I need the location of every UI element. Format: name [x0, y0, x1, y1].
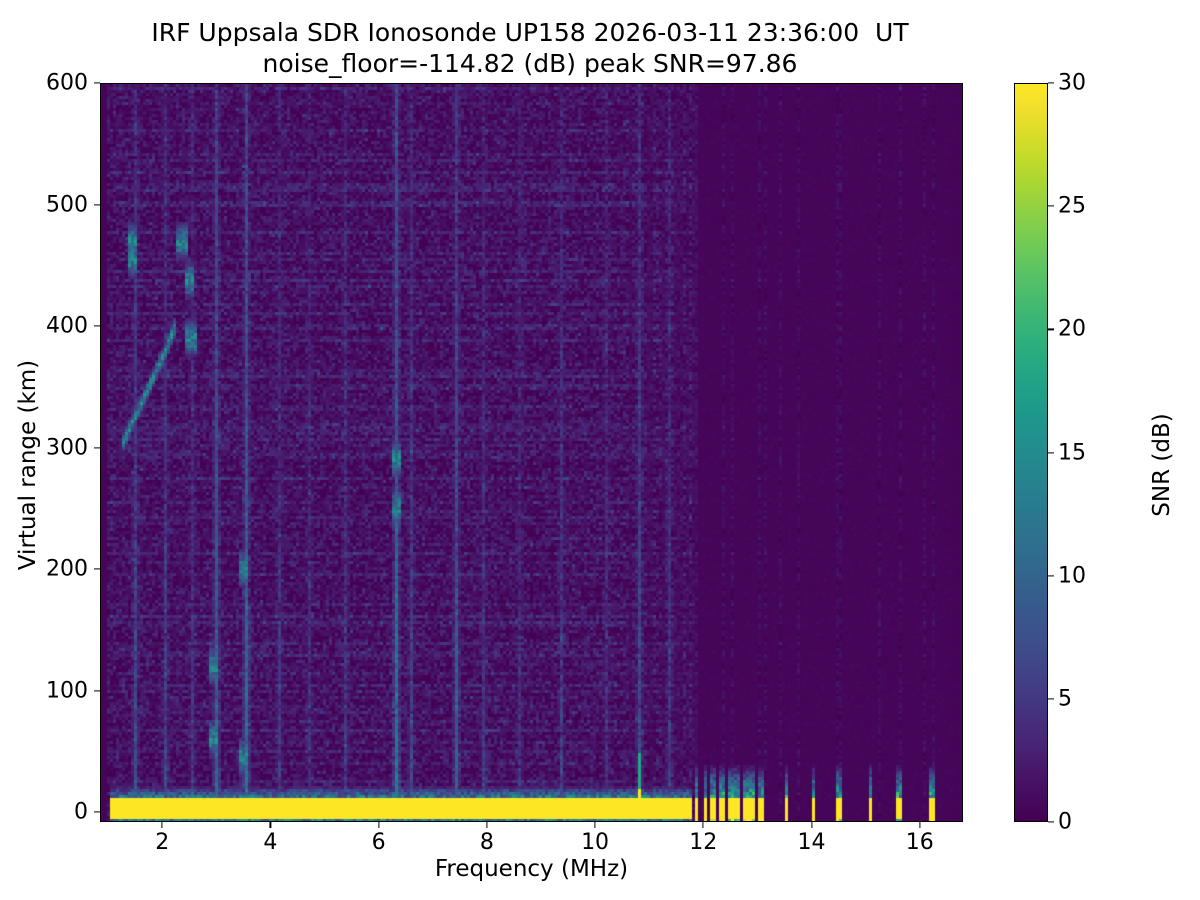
x-tick-label: 2: [155, 830, 169, 855]
colorbar-label: SNR (dB): [1149, 315, 1175, 615]
colorbar-tick-mark: [1048, 82, 1054, 83]
x-axis-label: Frequency (MHz): [100, 856, 963, 882]
ionogram-heatmap-canvas: [101, 84, 962, 821]
colorbar-tick-mark: [1048, 821, 1054, 822]
title-line-2: noise_floor=-114.82 (dB) peak SNR=97.86: [0, 49, 1060, 80]
x-tick-mark: [378, 822, 379, 828]
colorbar-tick-label: 10: [1058, 563, 1086, 588]
colorbar-tick-label: 30: [1058, 71, 1086, 96]
ionogram-axes: [100, 83, 963, 822]
colorbar-tick-label: 0: [1058, 810, 1072, 835]
colorbar-tick-mark: [1048, 452, 1054, 453]
x-tick-label: 14: [798, 830, 826, 855]
colorbar: [1014, 83, 1048, 822]
colorbar-tick-mark: [1048, 206, 1054, 207]
colorbar-tick-label: 5: [1058, 686, 1072, 711]
title-line-1: IRF Uppsala SDR Ionosonde UP158 2026-03-…: [0, 18, 1060, 49]
colorbar-tick-label: 15: [1058, 440, 1086, 465]
x-tick-label: 10: [581, 830, 609, 855]
colorbar-tick-label: 20: [1058, 317, 1086, 342]
colorbar-tick-label: 25: [1058, 194, 1086, 219]
x-tick-mark: [919, 822, 920, 828]
colorbar-tick-mark: [1048, 329, 1054, 330]
x-tick-label: 12: [689, 830, 717, 855]
x-tick-mark: [270, 822, 271, 828]
x-tick-label: 4: [263, 830, 277, 855]
y-tick-label: 0: [8, 800, 88, 825]
x-tick-mark: [486, 822, 487, 828]
y-tick-label: 100: [8, 678, 88, 703]
x-tick-label: 6: [372, 830, 386, 855]
x-tick-label: 8: [480, 830, 494, 855]
figure-title: IRF Uppsala SDR Ionosonde UP158 2026-03-…: [0, 18, 1060, 79]
y-tick-label: 500: [8, 192, 88, 217]
x-tick-mark: [594, 822, 595, 828]
x-tick-label: 16: [906, 830, 934, 855]
x-tick-mark: [811, 822, 812, 828]
x-tick-mark: [162, 822, 163, 828]
y-axis-label: Virtual range (km): [15, 295, 41, 635]
ionogram-figure: IRF Uppsala SDR Ionosonde UP158 2026-03-…: [0, 0, 1200, 900]
colorbar-tick-mark: [1048, 575, 1054, 576]
x-tick-mark: [703, 822, 704, 828]
colorbar-gradient: [1015, 84, 1047, 821]
colorbar-tick-mark: [1048, 698, 1054, 699]
